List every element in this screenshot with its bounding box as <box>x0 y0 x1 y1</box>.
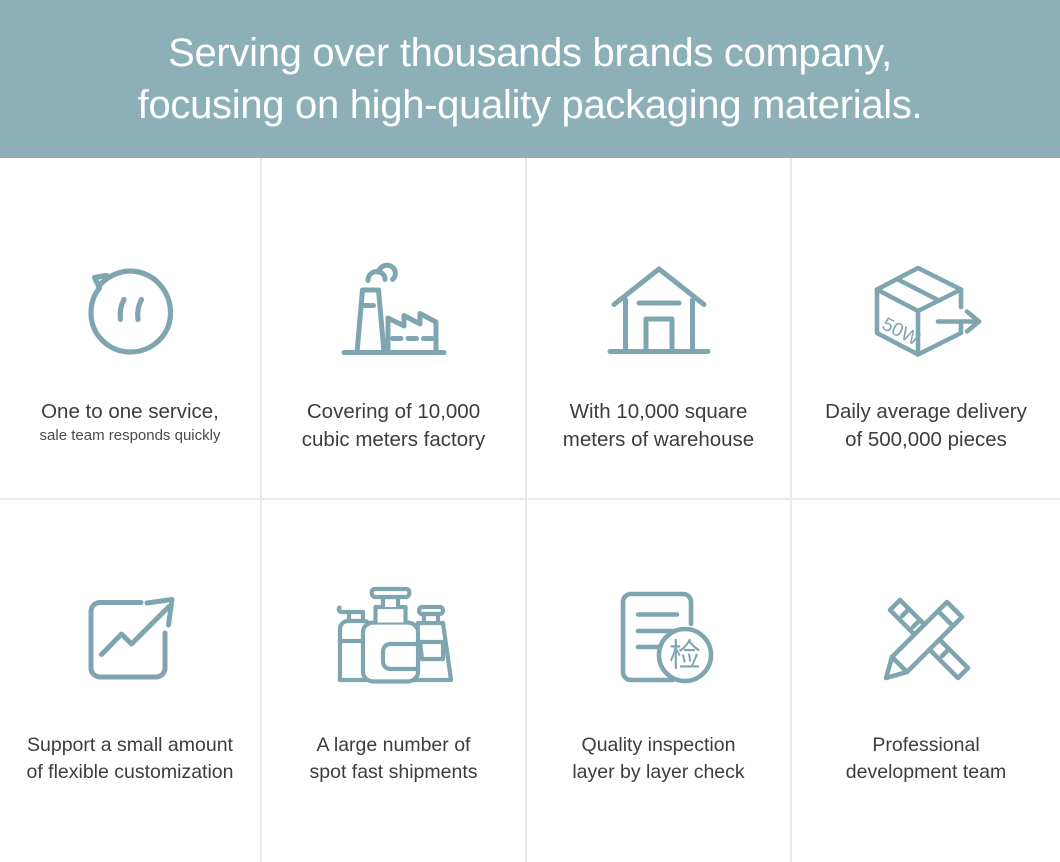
feature-caption: Support a small amount of flexible custo… <box>12 732 247 786</box>
feature-caption-line1: With 10,000 square <box>563 398 754 426</box>
banner-headline-line2: focusing on high-quality packaging mater… <box>138 79 923 131</box>
feature-caption: With 10,000 square meters of warehouse <box>549 398 768 455</box>
feature-caption-line2: spot fast shipments <box>310 759 478 786</box>
feature-caption-line2: cubic meters factory <box>302 426 485 454</box>
feature-card-spot-shipments[interactable]: A large number of spot fast shipments <box>262 500 527 862</box>
feature-caption: Daily average delivery of 500,000 pieces <box>811 398 1041 455</box>
features-grid: One to one service, sale team responds q… <box>0 158 1060 862</box>
feature-card-quality-inspection[interactable]: 检 Quality inspection layer by layer chec… <box>527 500 792 862</box>
feature-highlights-page: Serving over thousands brands company, f… <box>0 0 1060 862</box>
feature-card-flexible-customization[interactable]: Support a small amount of flexible custo… <box>0 500 262 862</box>
banner-headline-line1: Serving over thousands brands company, <box>168 27 892 79</box>
document-inspection-stamp-icon: 检 <box>601 572 717 702</box>
cosmetic-bottles-icon <box>323 572 465 702</box>
feature-caption-line2: sale team responds quickly <box>40 426 221 447</box>
feature-caption-line1: Covering of 10,000 <box>302 398 485 426</box>
growth-chart-arrow-icon <box>73 572 187 702</box>
factory-icon <box>333 246 455 376</box>
feature-card-warehouse-size[interactable]: With 10,000 square meters of warehouse <box>527 158 792 500</box>
feature-caption: Quality inspection layer by layer check <box>558 732 758 786</box>
feature-caption-line1: One to one service, <box>40 398 221 426</box>
feature-caption-line2: development team <box>846 759 1006 786</box>
feature-caption-line1: Daily average delivery <box>825 398 1027 426</box>
feature-caption: Professional development team <box>832 732 1020 786</box>
feature-card-development-team[interactable]: Professional development team <box>792 500 1060 862</box>
feature-caption-line2: layer by layer check <box>572 759 744 786</box>
feature-card-factory-size[interactable]: Covering of 10,000 cubic meters factory <box>262 158 527 500</box>
feature-caption-line2: meters of warehouse <box>563 426 754 454</box>
shipping-box-arrow-icon: 50W <box>862 246 990 376</box>
feature-caption-line1: A large number of <box>310 732 478 759</box>
feature-card-daily-delivery[interactable]: 50W Daily average delivery of 500,000 pi… <box>792 158 1060 500</box>
feature-caption-line1: Professional <box>846 732 1006 759</box>
stamp-character-text: 检 <box>668 636 700 674</box>
feature-caption-line2: of 500,000 pieces <box>825 426 1027 454</box>
feature-caption-line1: Quality inspection <box>572 732 744 759</box>
feature-caption-line1: Support a small amount <box>26 732 233 759</box>
feature-caption: One to one service, sale team responds q… <box>26 398 235 447</box>
feature-caption: Covering of 10,000 cubic meters factory <box>288 398 499 455</box>
feature-caption-line2: of flexible customization <box>26 759 233 786</box>
warehouse-house-icon <box>601 246 717 376</box>
feature-caption: A large number of spot fast shipments <box>296 732 492 786</box>
speech-bubble-quote-icon <box>74 246 186 376</box>
pencil-ruler-icon <box>868 572 984 702</box>
feature-card-one-to-one-service[interactable]: One to one service, sale team responds q… <box>0 158 262 500</box>
page-banner: Serving over thousands brands company, f… <box>0 0 1060 158</box>
